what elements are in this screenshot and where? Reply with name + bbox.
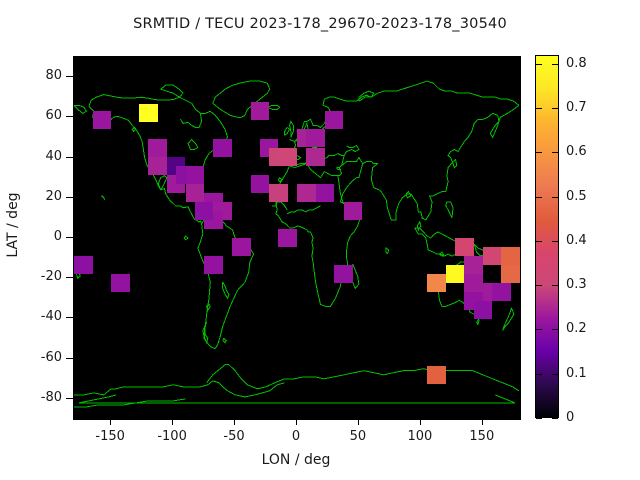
- y-axis-tick-label: 40: [0, 150, 62, 163]
- heatmap-cell: [74, 256, 93, 274]
- y-axis-tick-label: 60: [0, 109, 62, 122]
- heatmap-cell: [278, 229, 297, 247]
- colorbar-tick: [536, 241, 542, 242]
- x-axis-tick: [296, 418, 297, 425]
- colorbar-tick: [536, 374, 542, 375]
- heatmap-cell: [251, 102, 270, 120]
- x-axis-tick: [110, 418, 111, 425]
- colorbar-tick: [536, 418, 542, 419]
- colorbar-tick: [552, 108, 558, 109]
- x-axis-tick-label: -50: [204, 430, 264, 443]
- chart-title: SRMTID / TECU 2023-178_29670-2023-178_30…: [0, 16, 640, 32]
- heatmap-cell: [204, 256, 223, 274]
- x-axis-tick-label: -100: [142, 430, 202, 443]
- x-axis-tick-label: 150: [452, 430, 512, 443]
- colorbar-tick: [552, 241, 558, 242]
- colorbar-tick-label: 0.6: [566, 145, 622, 158]
- x-axis-tick: [420, 418, 421, 425]
- heatmap-cell: [474, 301, 493, 319]
- heatmap-cell: [483, 247, 502, 265]
- y-axis-tick: [66, 76, 73, 77]
- colorbar-tick-label: 0: [566, 411, 622, 424]
- x-axis-label: LON / deg: [73, 452, 519, 468]
- heatmap-cell: [344, 202, 363, 220]
- heatmap-cell: [186, 166, 205, 184]
- x-axis-tick-label: -150: [80, 430, 140, 443]
- heatmap-cell: [427, 274, 446, 292]
- colorbar-tick: [552, 329, 558, 330]
- heatmap-cell: [195, 202, 214, 220]
- x-axis-tick-label: 100: [390, 430, 450, 443]
- heatmap-cell: [139, 104, 158, 122]
- y-axis-tick-label: -40: [0, 310, 62, 323]
- heatmap-cell: [455, 238, 474, 256]
- heatmap-cell: [316, 184, 335, 202]
- heatmap-cell: [213, 139, 232, 157]
- figure-canvas: SRMTID / TECU 2023-178_29670-2023-178_30…: [0, 0, 640, 480]
- heatmap-cell: [325, 111, 344, 129]
- y-axis-tick-label: -80: [0, 391, 62, 404]
- heatmap-cell: [427, 366, 446, 384]
- colorbar-tick: [552, 197, 558, 198]
- heatmap-cell: [501, 265, 520, 283]
- heatmap-cell: [111, 274, 130, 292]
- y-axis-tick: [66, 197, 73, 198]
- colorbar: [535, 55, 559, 418]
- heatmap-cell: [232, 238, 251, 256]
- heatmap-cell: [251, 175, 270, 193]
- heatmap-cell: [269, 184, 288, 202]
- colorbar-tick: [552, 152, 558, 153]
- heatmap-cell: [446, 265, 465, 283]
- colorbar-tick-label: 0.2: [566, 322, 622, 335]
- heatmap-cell: [306, 148, 325, 166]
- colorbar-tick: [552, 64, 558, 65]
- y-axis-tick: [66, 157, 73, 158]
- colorbar-tick-label: 0.4: [566, 234, 622, 247]
- y-axis-label: LAT / deg: [5, 165, 21, 285]
- y-axis-tick: [66, 237, 73, 238]
- colorbar-gradient: [536, 56, 558, 417]
- colorbar-tick: [536, 152, 542, 153]
- heatmap-cell: [464, 274, 483, 292]
- x-axis-tick-label: 50: [328, 430, 388, 443]
- colorbar-tick: [536, 285, 542, 286]
- colorbar-tick: [552, 285, 558, 286]
- x-axis-tick: [358, 418, 359, 425]
- colorbar-tick-label: 0.7: [566, 101, 622, 114]
- x-axis-tick: [234, 418, 235, 425]
- colorbar-tick-label: 0.3: [566, 278, 622, 291]
- map-plot-area: [73, 56, 521, 420]
- y-axis-tick: [66, 398, 73, 399]
- colorbar-tick: [536, 64, 542, 65]
- heatmap-cell: [501, 247, 520, 265]
- y-axis-tick-label: -60: [0, 351, 62, 364]
- y-axis-tick-label: 80: [0, 69, 62, 82]
- y-axis-tick: [66, 358, 73, 359]
- colorbar-tick-label: 0.1: [566, 367, 622, 380]
- heatmap-cell: [148, 157, 167, 175]
- colorbar-tick: [552, 374, 558, 375]
- heatmap-cell: [278, 148, 297, 166]
- y-axis-tick: [66, 116, 73, 117]
- heatmap-cell: [186, 184, 205, 202]
- heatmap-cell: [306, 129, 325, 147]
- colorbar-tick: [536, 329, 542, 330]
- colorbar-tick: [536, 108, 542, 109]
- heatmap-cell: [93, 111, 112, 129]
- heatmap-cell: [297, 184, 316, 202]
- colorbar-tick: [536, 197, 542, 198]
- map-plot-inner: [74, 57, 520, 419]
- colorbar-tick-label: 0.8: [566, 57, 622, 70]
- y-axis-tick: [66, 317, 73, 318]
- colorbar-tick-label: 0.5: [566, 190, 622, 203]
- colorbar-tick: [552, 418, 558, 419]
- heatmap-cell: [464, 256, 483, 274]
- y-axis-tick: [66, 277, 73, 278]
- x-axis-tick: [172, 418, 173, 425]
- x-axis-tick-label: 0: [266, 430, 326, 443]
- x-axis-tick: [482, 418, 483, 425]
- heatmap-cell: [334, 265, 353, 283]
- heatmap-cell: [492, 283, 511, 301]
- heatmap-cell: [148, 139, 167, 157]
